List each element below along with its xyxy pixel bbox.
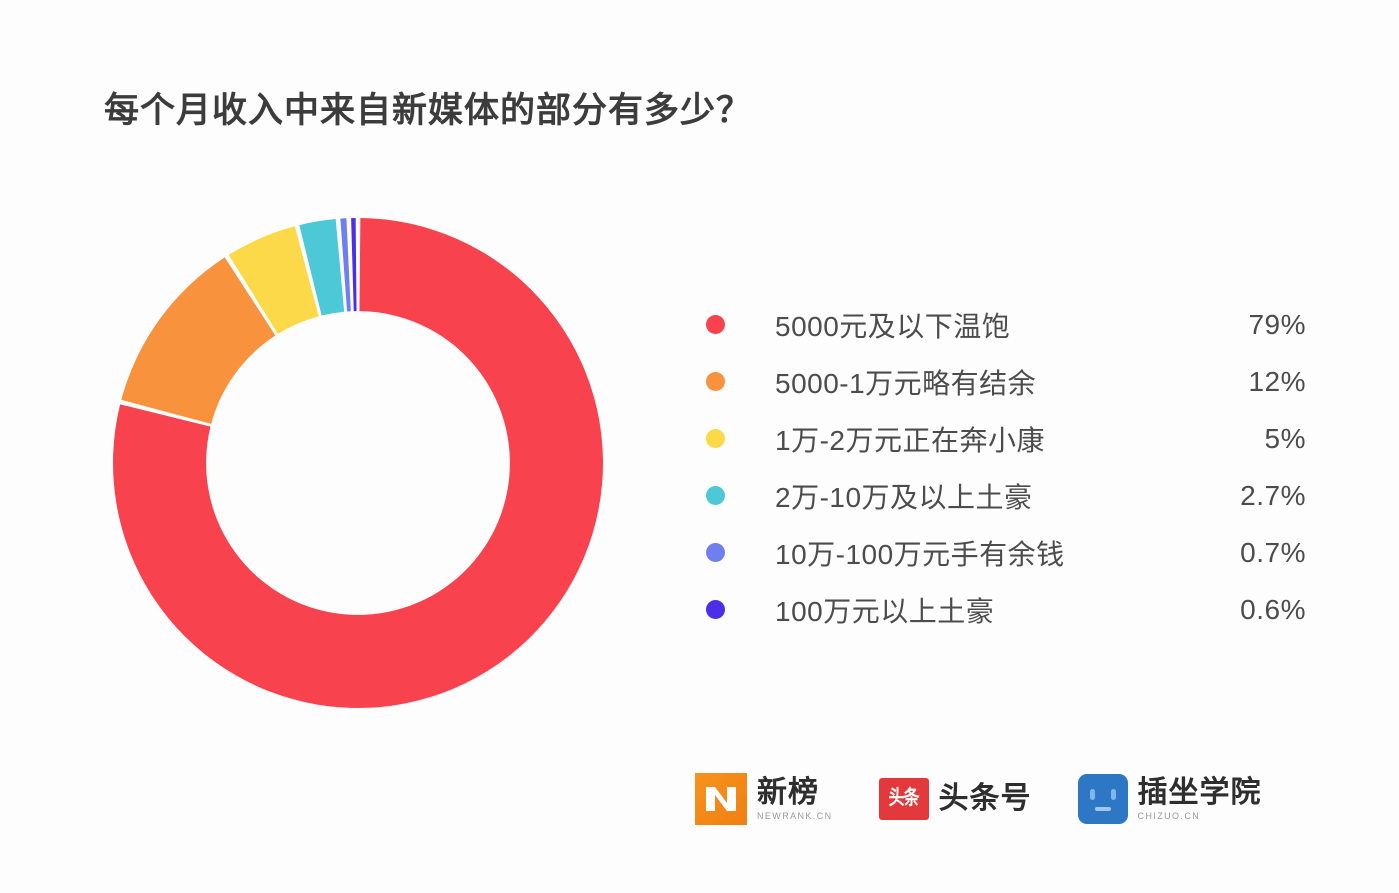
chizuo-mark-icon: [1078, 774, 1128, 824]
newrank-mark-icon: [695, 773, 747, 825]
legend-item-label: 10万-100万元手有余钱: [775, 533, 1186, 573]
logo-name: 新榜: [757, 777, 833, 809]
legend-item-label: 100万元以上土豪: [775, 590, 1186, 630]
page-title: 每个月收入中来自新媒体的部分有多少？: [104, 82, 752, 133]
chizuo-eye-left-icon: [1090, 789, 1095, 800]
legend-item-value: 5%: [1186, 423, 1306, 455]
logo-name: 插坐学院: [1138, 777, 1262, 809]
legend-swatch-icon: [706, 600, 725, 619]
legend-swatch-icon: [706, 543, 725, 562]
legend-swatch-icon: [706, 486, 725, 505]
logo-newrank[interactable]: 新榜 NEWRANK.CN: [695, 773, 833, 825]
legend-item-2[interactable]: 1万-2万元正在奔小康 5%: [706, 410, 1306, 467]
legend-item-value: 79%: [1186, 309, 1306, 341]
footer-logo-bar: 新榜 NEWRANK.CN 头条 头条号 插坐学院 CHIZUO.CN: [695, 773, 1262, 825]
toutiao-mark-icon: 头条: [879, 778, 929, 820]
legend-item-label: 2万-10万及以上土豪: [775, 476, 1186, 516]
donut-chart-svg: [108, 213, 608, 713]
logo-subtitle: NEWRANK.CN: [757, 811, 833, 821]
logo-chizuo-text: 插坐学院 CHIZUO.CN: [1138, 777, 1262, 822]
logo-newrank-text: 新榜 NEWRANK.CN: [757, 777, 833, 822]
logo-chizuo[interactable]: 插坐学院 CHIZUO.CN: [1078, 774, 1262, 824]
chizuo-mouth-icon: [1095, 807, 1111, 811]
legend-item-1[interactable]: 5000-1万元略有结余 12%: [706, 353, 1306, 410]
donut-slice[interactable]: [351, 218, 356, 311]
logo-toutiao[interactable]: 头条 头条号: [879, 778, 1032, 820]
legend: 5000元及以下温饱 79% 5000-1万元略有结余 12% 1万-2万元正在…: [706, 296, 1306, 638]
legend-item-0[interactable]: 5000元及以下温饱 79%: [706, 296, 1306, 353]
chizuo-eye-right-icon: [1111, 789, 1116, 800]
legend-item-value: 2.7%: [1186, 480, 1306, 512]
legend-item-value: 0.7%: [1186, 537, 1306, 569]
toutiao-badge-text: 头条: [889, 789, 919, 809]
logo-toutiao-text: 头条号: [939, 783, 1032, 815]
legend-item-label: 5000-1万元略有结余: [775, 362, 1186, 402]
donut-chart: [108, 213, 608, 713]
legend-item-5[interactable]: 100万元以上土豪 0.6%: [706, 581, 1306, 638]
legend-swatch-icon: [706, 315, 725, 334]
logo-subtitle: CHIZUO.CN: [1138, 811, 1262, 821]
legend-item-3[interactable]: 2万-10万及以上土豪 2.7%: [706, 467, 1306, 524]
logo-name: 头条号: [939, 783, 1032, 815]
legend-swatch-icon: [706, 429, 725, 448]
legend-item-label: 5000元及以下温饱: [775, 305, 1186, 345]
legend-item-value: 0.6%: [1186, 594, 1306, 626]
legend-item-label: 1万-2万元正在奔小康: [775, 419, 1186, 459]
legend-item-4[interactable]: 10万-100万元手有余钱 0.7%: [706, 524, 1306, 581]
donut-slice-group: [113, 218, 603, 708]
legend-swatch-icon: [706, 372, 725, 391]
legend-item-value: 12%: [1186, 366, 1306, 398]
